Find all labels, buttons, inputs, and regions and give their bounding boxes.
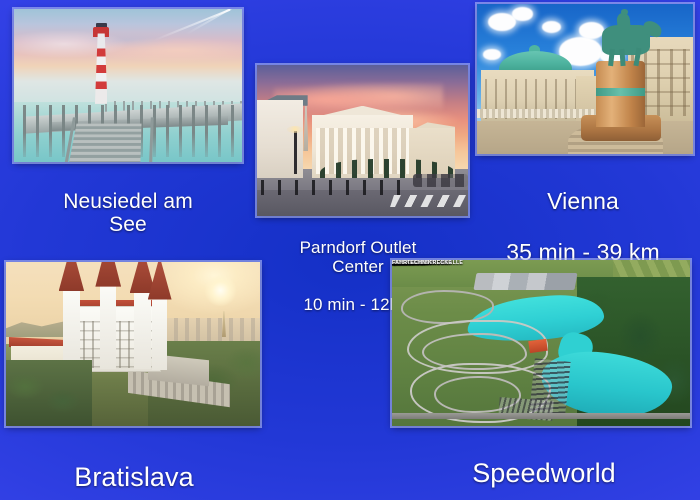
destination-title: Bratislava <box>0 462 268 492</box>
castle-corner-tower <box>152 298 167 370</box>
photo-lighthouse-pier <box>14 9 242 162</box>
destination-title: Speedworld <box>400 458 688 488</box>
cloud <box>483 49 500 60</box>
destination-photo-parndorf-outlet-center <box>257 65 468 216</box>
map-label: FAHRTECHNIK <box>392 260 432 266</box>
street-lamp <box>294 131 297 173</box>
event-hall-buildings <box>474 273 578 290</box>
pier-railing <box>64 117 152 162</box>
destination-title: Neusiedel am See <box>0 190 256 237</box>
tree-canopy-left <box>6 360 92 426</box>
caption-speedworld: Speedworld 5 min - 3,9 km <box>400 428 688 500</box>
caption-bratislava: Bratislava 27 min - 29km <box>0 432 268 500</box>
photo-vienna-statue <box>477 4 693 154</box>
presentation-slide: Neusiedel am See 13 min - 15 km Parndorf <box>0 0 700 500</box>
destination-photo-vienna <box>477 4 693 154</box>
photo-bratislava-castle <box>6 262 260 426</box>
crosswalk-markings <box>390 195 468 207</box>
destination-photo-neusiedel-am-see <box>14 9 242 162</box>
sky-layer <box>14 9 242 104</box>
quad-track <box>401 290 494 324</box>
cloud <box>512 7 534 21</box>
restaurant-building <box>528 338 547 352</box>
balustrade <box>477 109 598 118</box>
castle-corner-tower <box>134 292 151 369</box>
castle-corner-tower <box>63 290 80 369</box>
photo-speedworld-aerial: VERANSTALTUNGSHALLESEMINARRAUMQUAD BAHND… <box>392 260 690 426</box>
cloud <box>542 21 561 33</box>
destination-photo-speedworld: VERANSTALTUNGSHALLESEMINARRAUMQUAD BAHND… <box>392 260 690 426</box>
destination-photo-bratislava <box>6 262 260 426</box>
parked-cars <box>413 174 468 188</box>
horse-leg <box>619 49 625 66</box>
access-road <box>392 413 690 420</box>
photo-outlet-village <box>257 65 468 216</box>
bollard-row <box>261 180 409 195</box>
plinth-bronze-band <box>596 88 646 96</box>
destination-title: Vienna <box>466 189 700 215</box>
cloud <box>579 22 605 39</box>
castle-corner-tower <box>100 285 117 369</box>
